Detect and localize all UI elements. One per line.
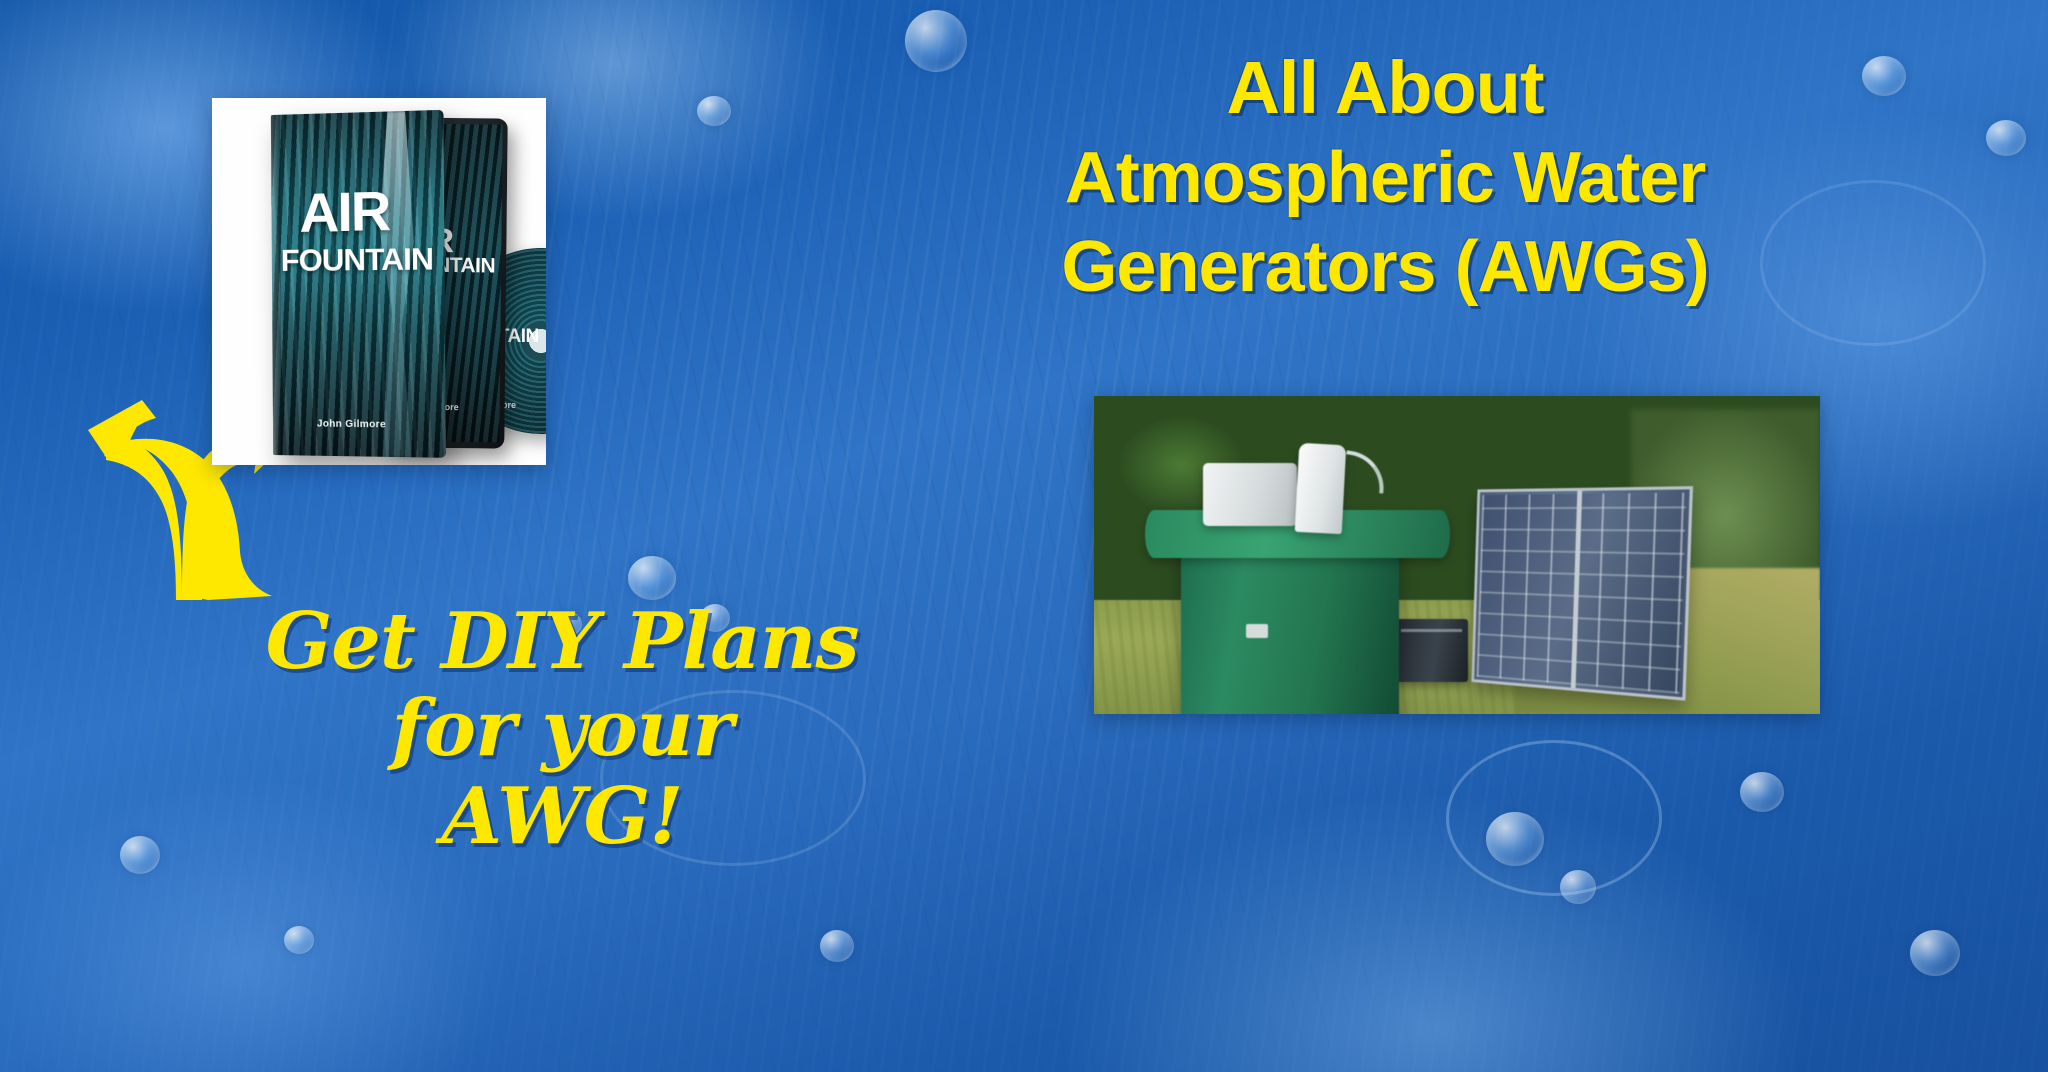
book-title-line1: AIR [299,187,389,238]
book-author: John Gilmore [317,419,386,431]
headline: All About Atmospheric Water Generators (… [770,42,2000,312]
bubble-icon [820,930,854,962]
cta-text: Get DIY Plans for your AWG! [262,598,862,860]
bubble-icon [628,556,676,600]
headline-line-1: All About [770,42,2000,134]
book-title-line2: FOUNTAIN [281,241,433,279]
bubble-icon [284,926,314,954]
headline-line-2: Atmospheric Water [770,134,2000,223]
headline-line-3: Generators (AWGs) [770,223,2000,312]
poster-canvas: AIR FOUNTAIN Gilmore AIR FOUNTAIN John G… [0,0,2048,1072]
cta-line-2: for your AWG! [262,685,862,860]
book-cover: AIR FOUNTAIN John Gilmore [271,110,446,458]
cta-line-1: Get DIY Plans [262,598,862,685]
book-bundle-image: AIR FOUNTAIN Gilmore AIR FOUNTAIN John G… [212,98,546,465]
bubble-icon [697,96,731,126]
bubble-icon [1910,930,1960,976]
awg-photo [1094,396,1820,714]
bubble-icon [120,836,160,874]
ripple-icon [1446,740,1662,896]
bubble-icon [1740,772,1784,812]
